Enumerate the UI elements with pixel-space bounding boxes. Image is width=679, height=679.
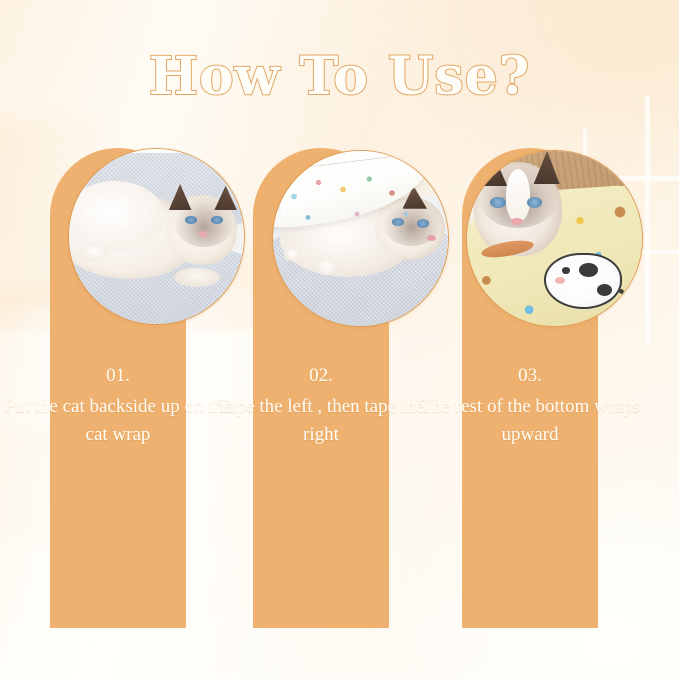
infographic-canvas: How To Use? 01. Put the cat backside up …: [0, 0, 679, 679]
step-description-3: The rest of the bottom wraps upward: [416, 393, 644, 449]
step-number-3: 03.: [416, 362, 644, 390]
background-gridline-vertical: [645, 96, 650, 346]
step-description-2: Tape the left , then tape the right: [207, 393, 435, 449]
step-number-2: 02.: [207, 362, 435, 390]
step-photo-1-image: [69, 149, 244, 324]
step-photo-2-image: [273, 151, 448, 326]
step-text-1: 01. Put the cat backside up on the cat w…: [4, 362, 232, 449]
step-text-2: 02. Tape the left , then tape the right: [207, 362, 435, 449]
step-photo-2: [272, 150, 449, 327]
step-photo-3: [466, 150, 643, 327]
page-title: How To Use?: [0, 46, 679, 107]
step-description-1: Put the cat backside up on the cat wrap: [4, 393, 232, 449]
step-photo-1: [68, 148, 245, 325]
step-number-1: 01.: [4, 362, 232, 390]
step-photo-3-image: [467, 151, 642, 326]
step-text-3: 03. The rest of the bottom wraps upward: [416, 362, 644, 449]
